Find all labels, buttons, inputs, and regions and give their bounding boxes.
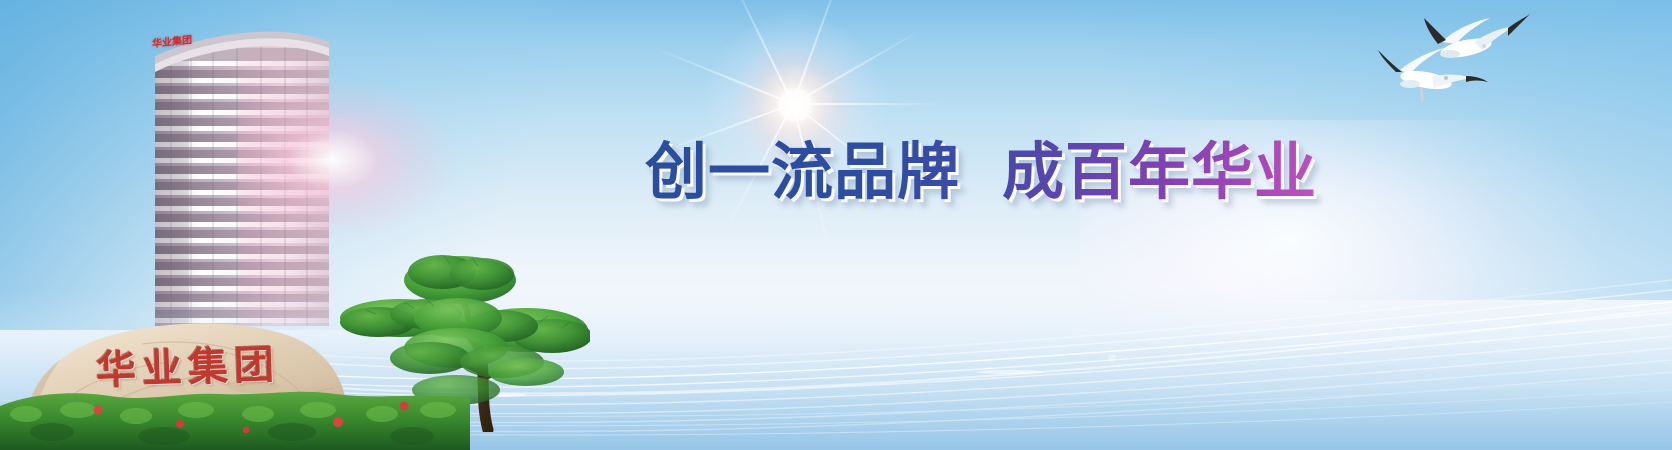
building-lens-flare [236, 78, 466, 248]
seagull-birds [1370, 4, 1570, 114]
water-surface [0, 290, 1672, 450]
monument-stone [22, 316, 352, 428]
highrise-building-illustration [143, 26, 341, 326]
building-rooftop-sign: 华业集团 [152, 31, 192, 50]
sky-left-gradient [0, 0, 620, 330]
corporate-hero-banner: 华业集团 [0, 0, 1672, 450]
headline-part-2: 成百年华业 [1002, 135, 1317, 208]
seagull-icon-lower [1378, 48, 1488, 104]
sun-core-icon [778, 88, 812, 122]
trimmed-hedge [0, 380, 470, 450]
headline-part-1: 创一流品牌 [645, 135, 960, 208]
hedge-flowers [94, 402, 409, 434]
bonsai-pine-tree [330, 222, 590, 432]
page-headline: 创一流品牌成百年华业 [645, 132, 1365, 212]
monument-inscription: 华业集团 [95, 337, 347, 398]
sun-rays [793, 103, 795, 105]
seagull-icon-upper [1424, 14, 1530, 61]
wave-ribbons [0, 250, 1672, 450]
